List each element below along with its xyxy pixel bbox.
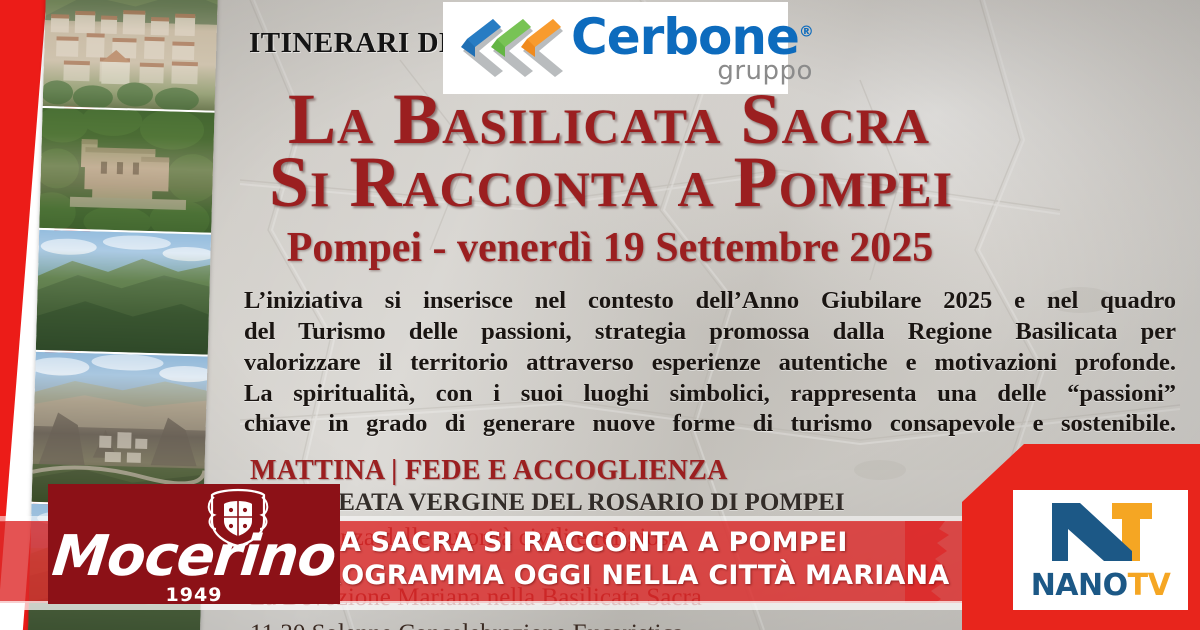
nanotv-word-tv: TV bbox=[1128, 568, 1171, 603]
registered-trademark-icon: ® bbox=[799, 22, 813, 40]
title-line-2: Si Racconta a Pompei bbox=[0, 149, 1200, 216]
nanotv-monogram-icon bbox=[1036, 499, 1166, 569]
cerbone-chevrons-icon bbox=[457, 17, 565, 79]
mocerino-wordmark: Mocerino bbox=[48, 524, 340, 589]
description-line: valorizzare il territorio attraverso esp… bbox=[244, 348, 1176, 379]
sponsor-logo-mocerino[interactable]: Mocerino 1949 bbox=[48, 484, 340, 604]
description-line: del Turismo delle passioni, strategia pr… bbox=[244, 317, 1176, 348]
mocerino-year: 1949 bbox=[48, 584, 340, 604]
poster-description: L’iniziativa si inserisce nel contesto d… bbox=[244, 286, 1176, 440]
program-venue: ARIO BEATA VERGINE DEL ROSARIO DI POMPEI bbox=[250, 489, 970, 517]
cerbone-wordmark: Cerbone® bbox=[571, 12, 813, 62]
nanotv-word-nano: NANO bbox=[1031, 568, 1128, 603]
broadcaster-logo-nanotv[interactable]: NANOTV bbox=[1013, 490, 1188, 610]
poster-subtitle-date: Pompei - venerdì 19 Settembre 2025 bbox=[0, 224, 1200, 272]
poster-canvas: ITINERARI DE Cerbone® gruppo bbox=[0, 0, 1200, 630]
description-line: chiave in grado di generare nuove forme … bbox=[244, 409, 1176, 440]
description-line: La spiritualità, con i suoi luoghi simbo… bbox=[244, 379, 1176, 410]
program-item: 11.30 Solenne Concelebrazione Eucaristic… bbox=[250, 620, 970, 630]
eyebrow-text: ITINERARI DE bbox=[249, 27, 459, 60]
description-line: L’iniziativa si inserisce nel contesto d… bbox=[244, 286, 1176, 317]
nanotv-wordmark: NANOTV bbox=[1031, 571, 1171, 601]
poster-title: La Basilicata Sacra Si Racconta a Pompei bbox=[0, 86, 1200, 216]
program-heading: MATTINA | FEDE E ACCOGLIENZA bbox=[250, 455, 970, 487]
